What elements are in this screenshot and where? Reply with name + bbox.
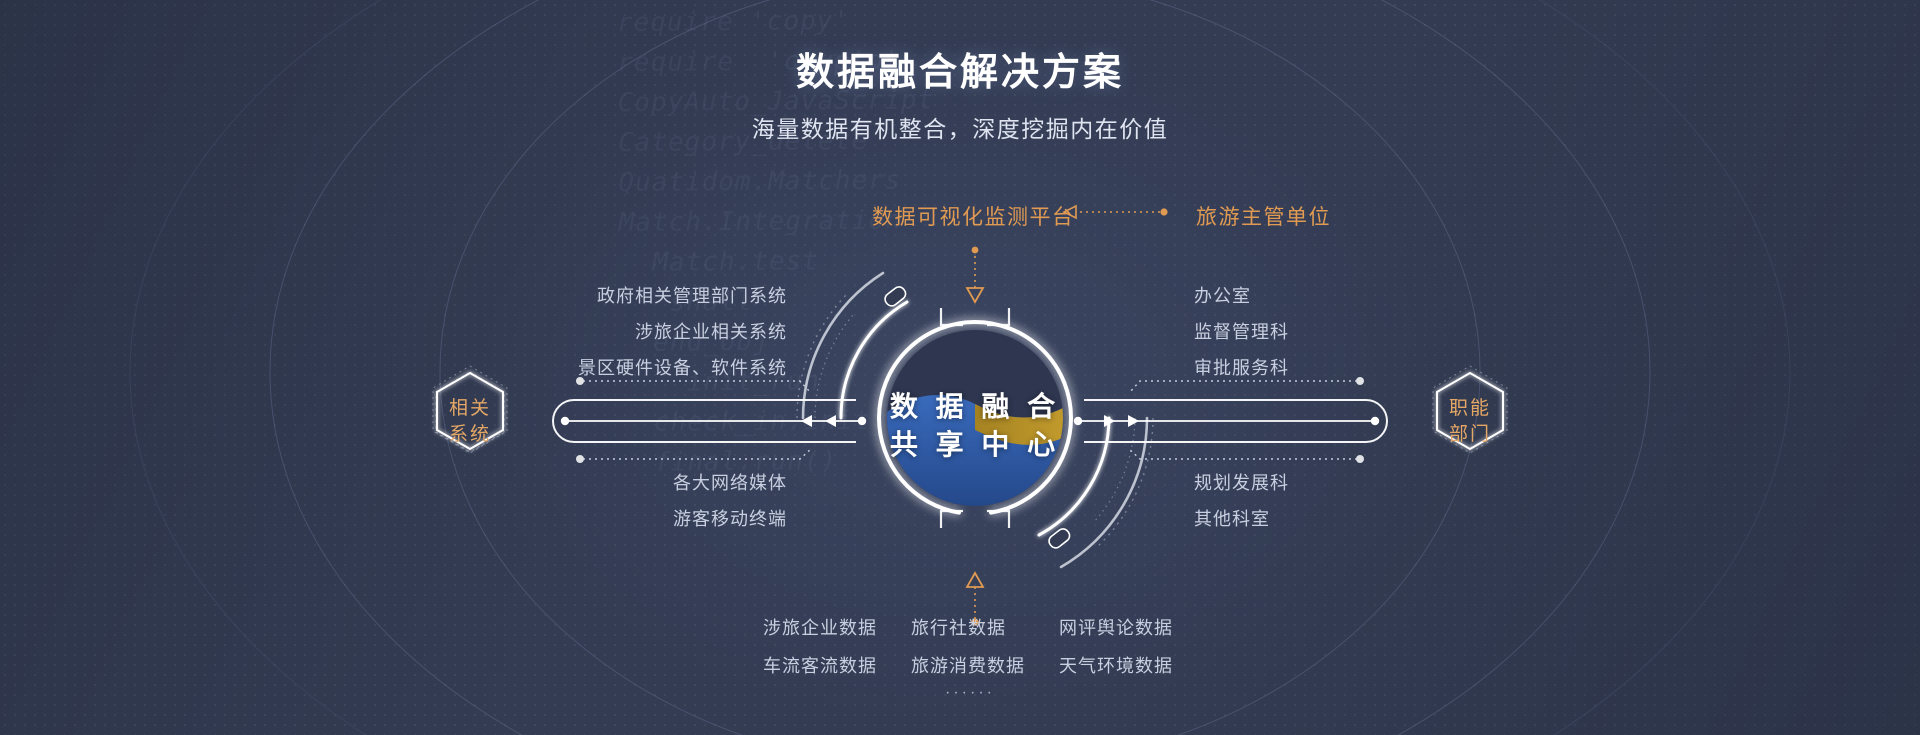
badge-left-line-2: 系统 [415,422,525,448]
left-source-5: 游客移动终端 [387,505,787,531]
bottom-data-4: 车流客流数据 [763,652,877,678]
right-department-3: 审批服务科 [1194,354,1289,380]
badge-right-line-2: 部门 [1415,422,1525,448]
badge-right-functional-dept: 职能 部门 [1415,396,1525,448]
right-department-4: 规划发展科 [1194,469,1289,495]
right-department-2: 监督管理科 [1194,318,1289,344]
badge-left-related-systems: 相关 系统 [415,396,525,448]
bottom-data-3: 网评舆论数据 [1059,614,1173,640]
hub-center-text: 数 据 融 合 共 享 中 心 [845,388,1105,464]
right-department-5: 其他科室 [1194,505,1270,531]
left-source-1: 政府相关管理部门系统 [387,282,787,308]
left-source-2: 涉旅企业相关系统 [387,318,787,344]
bottom-data-1: 涉旅企业数据 [763,614,877,640]
label-visual-platform: 数据可视化监测平台 [872,201,1075,231]
hub-line-1: 数 据 融 合 [845,388,1105,426]
top-flow-connector [1064,206,1168,218]
page-subtitle: 海量数据有机整合，深度挖掘内在价值 [0,110,1920,144]
triangle-down-marker-top [967,288,983,302]
bottom-data-6: 天气环境数据 [1059,652,1173,678]
bottom-data-5: 旅游消费数据 [911,652,1025,678]
bottom-data-2: 旅行社数据 [911,614,1006,640]
badge-right-line-1: 职能 [1415,396,1525,422]
badge-left-line-1: 相关 [415,396,525,422]
page-title: 数据融合解决方案 [0,41,1920,96]
right-department-1: 办公室 [1194,282,1251,308]
hub-line-2: 共 享 中 心 [845,426,1105,464]
label-tourism-authority: 旅游主管单位 [1196,201,1331,231]
left-source-4: 各大网络媒体 [387,469,787,495]
bottom-data-ellipsis: ······ [945,684,995,702]
left-source-3: 景区硬件设备、软件系统 [387,354,787,380]
triangle-up-marker-bottom [967,573,983,587]
